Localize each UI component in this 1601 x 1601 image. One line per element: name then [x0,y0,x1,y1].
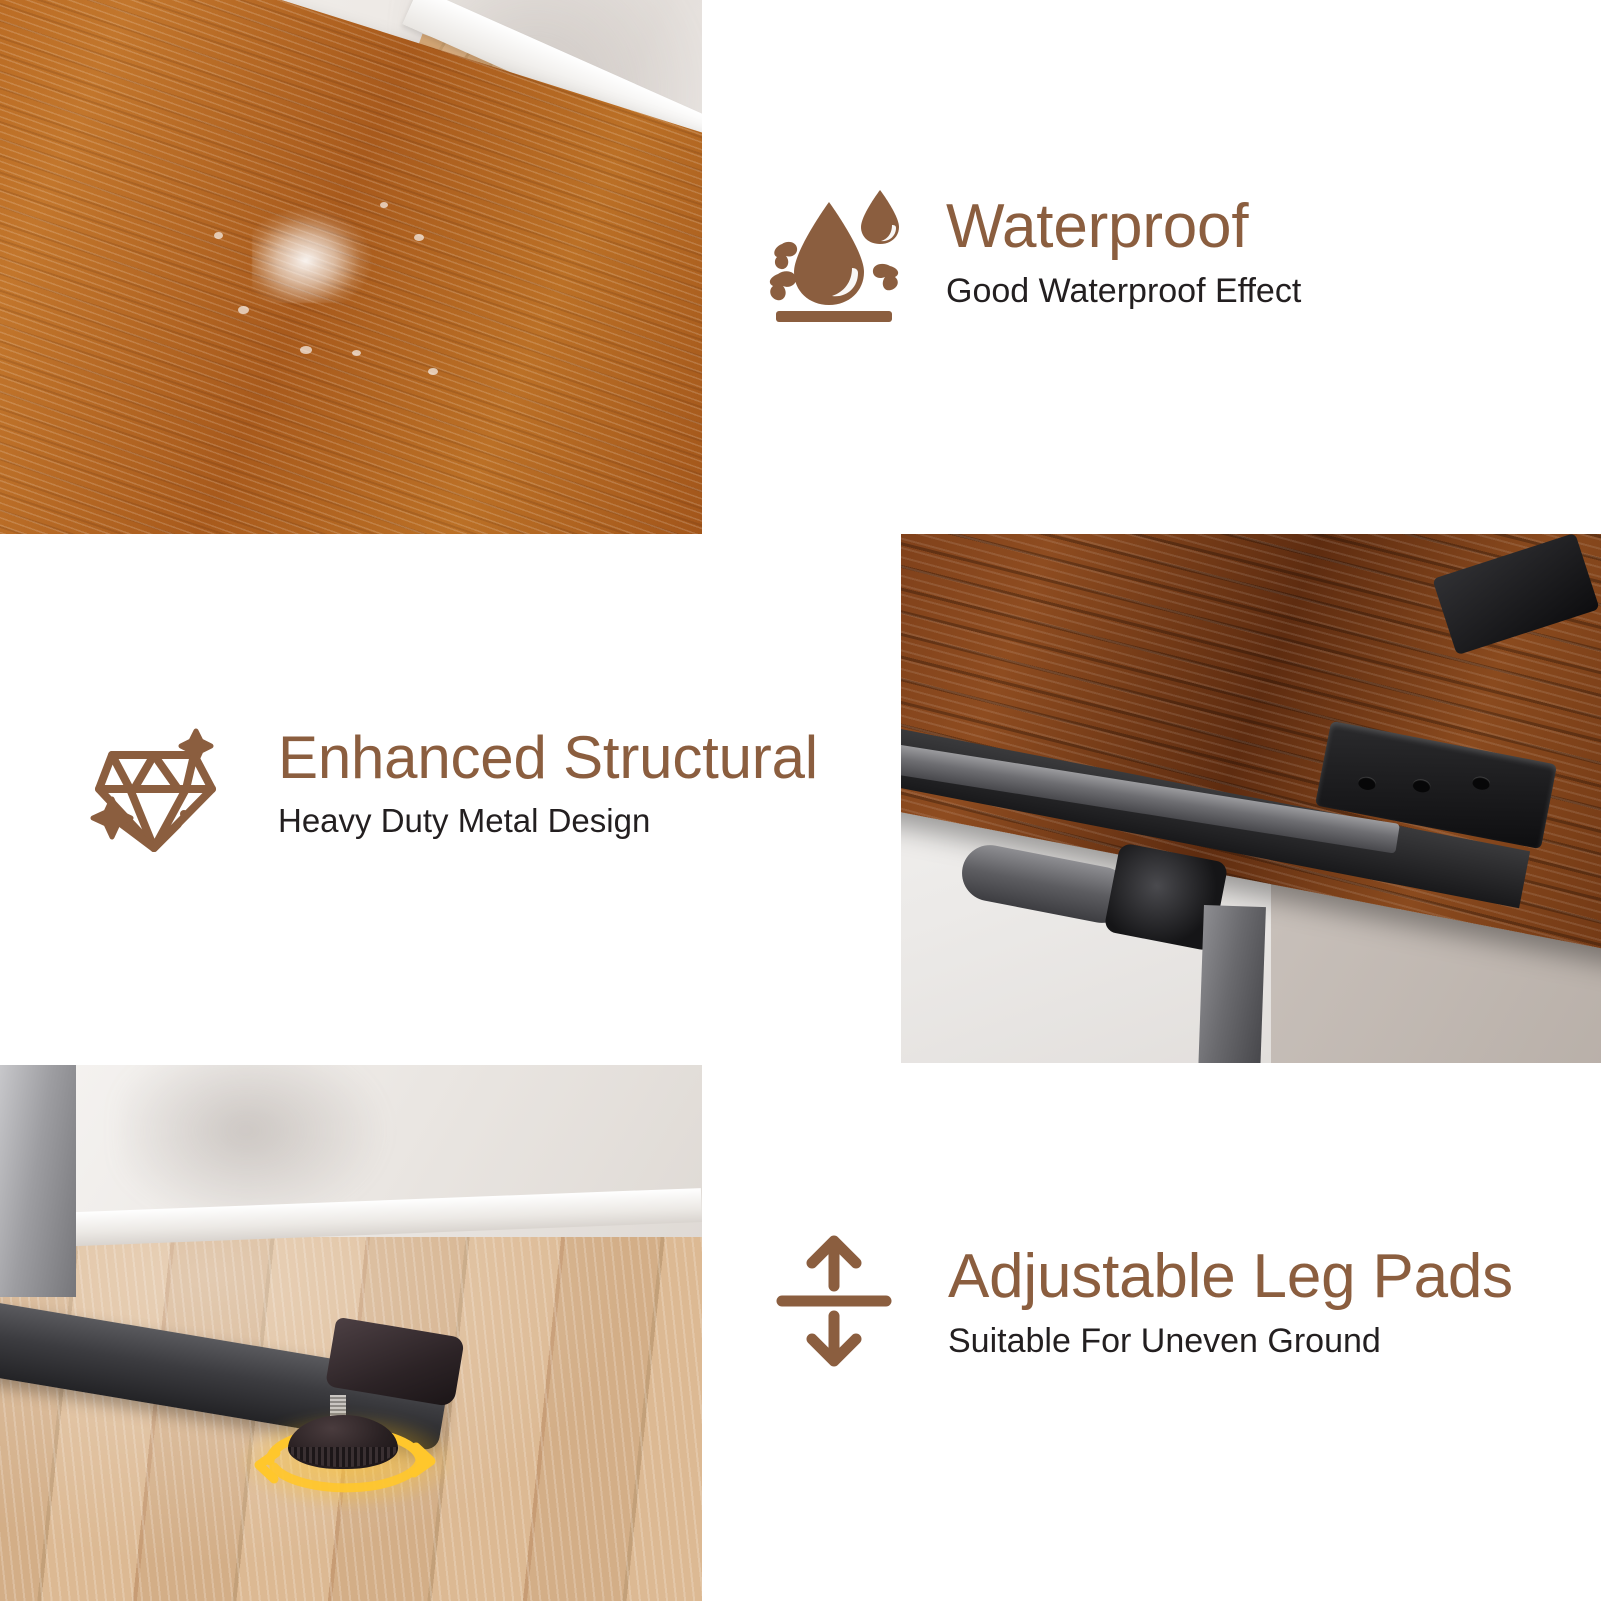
feature-title: Waterproof [946,195,1301,259]
diamond-icon [82,706,232,861]
feature-block-structural: Enhanced Structural Heavy Duty Metal Des… [82,706,818,861]
feature-subtitle: Heavy Duty Metal Design [278,801,818,841]
water-droplet [428,368,438,375]
photo-desk-frame-underside [901,534,1601,1063]
water-droplet [214,232,223,239]
photo-adjustable-foot-pad [0,1065,702,1601]
feature-text-structural: Enhanced Structural Heavy Duty Metal Des… [278,727,818,841]
water-splash [252,208,372,303]
up-down-arrows-icon [772,1228,896,1379]
feature-text-waterproof: Waterproof Good Waterproof Effect [946,195,1301,312]
feature-subtitle: Good Waterproof Effect [946,271,1301,312]
desk-leg-column [1198,905,1266,1063]
water-droplet [380,202,388,208]
feature-block-legpads: Adjustable Leg Pads Suitable For Uneven … [772,1228,1513,1379]
water-droplet-icon [768,178,904,329]
feature-text-legpads: Adjustable Leg Pads Suitable For Uneven … [948,1245,1513,1362]
desk-leg-column [0,1065,76,1297]
bracket-screw-hole [1471,775,1491,791]
water-droplet [352,350,361,356]
feature-title: Adjustable Leg Pads [948,1245,1513,1309]
water-droplet [300,346,312,354]
water-droplet [238,306,249,314]
bracket-screw-hole [1357,775,1377,791]
feature-title: Enhanced Structural [278,727,818,789]
water-droplet [414,234,424,241]
feature-subtitle: Suitable For Uneven Ground [948,1321,1513,1362]
bracket-screw-hole [1412,778,1432,794]
photo-waterproof-desktop [0,0,702,534]
feature-block-waterproof: Waterproof Good Waterproof Effect [768,178,1301,329]
